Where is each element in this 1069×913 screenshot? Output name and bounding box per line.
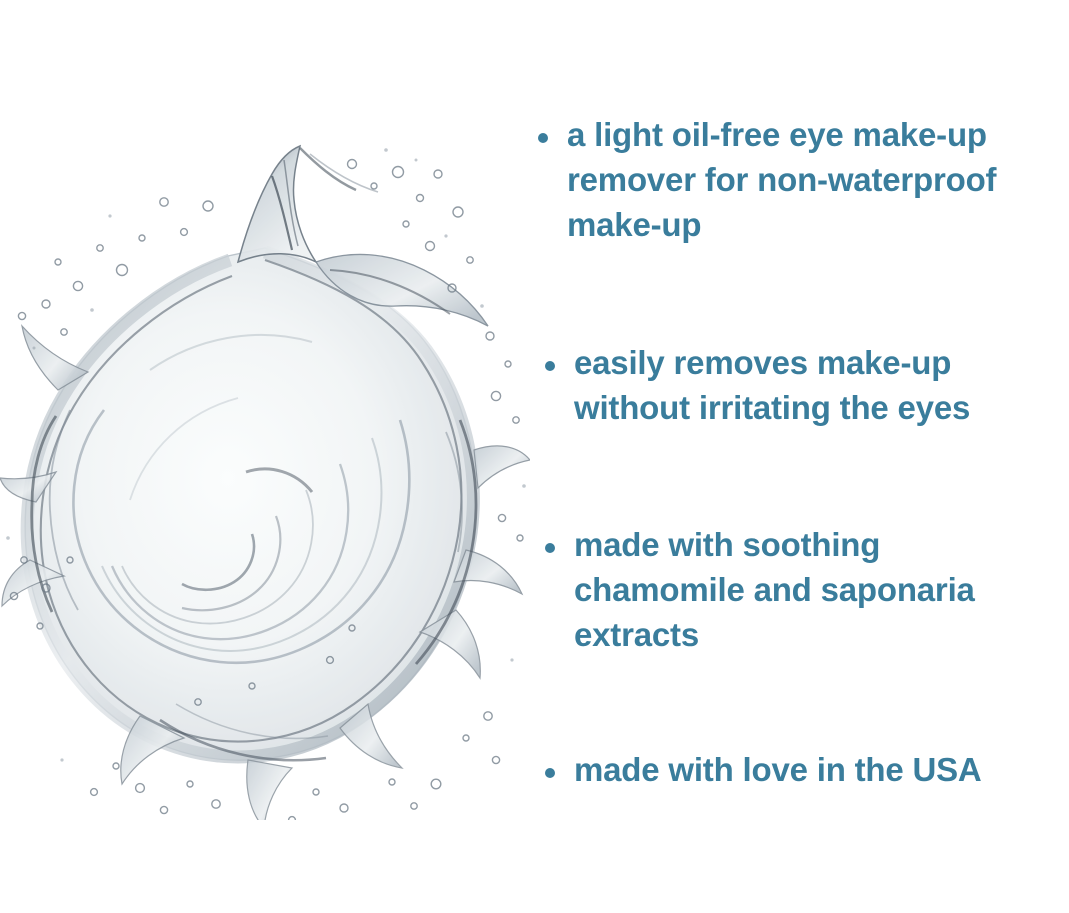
benefits-list: a light oil-free eye make-up remover for… — [530, 112, 1069, 832]
list-item: a light oil-free eye make-up remover for… — [530, 112, 1069, 247]
benefit-text: a light oil-free eye make-up remover for… — [567, 112, 1065, 247]
bullet-icon — [545, 361, 555, 371]
benefit-text: easily removes make-up without irritatin… — [574, 340, 1048, 430]
product-benefits-graphic: a light oil-free eye make-up remover for… — [0, 0, 1069, 913]
bullet-icon — [545, 768, 555, 778]
benefit-text: made with love in the USA — [574, 747, 1069, 792]
list-item: made with soothing chamomile and saponar… — [530, 522, 1069, 657]
benefit-text: made with soothing chamomile and saponar… — [574, 522, 1028, 657]
water-splash-image — [0, 120, 530, 820]
bullet-icon — [545, 543, 555, 553]
water-splash-svg — [0, 120, 530, 820]
list-item: easily removes make-up without irritatin… — [530, 340, 1069, 430]
bullet-icon — [538, 133, 548, 143]
list-item: made with love in the USA — [530, 747, 1069, 792]
